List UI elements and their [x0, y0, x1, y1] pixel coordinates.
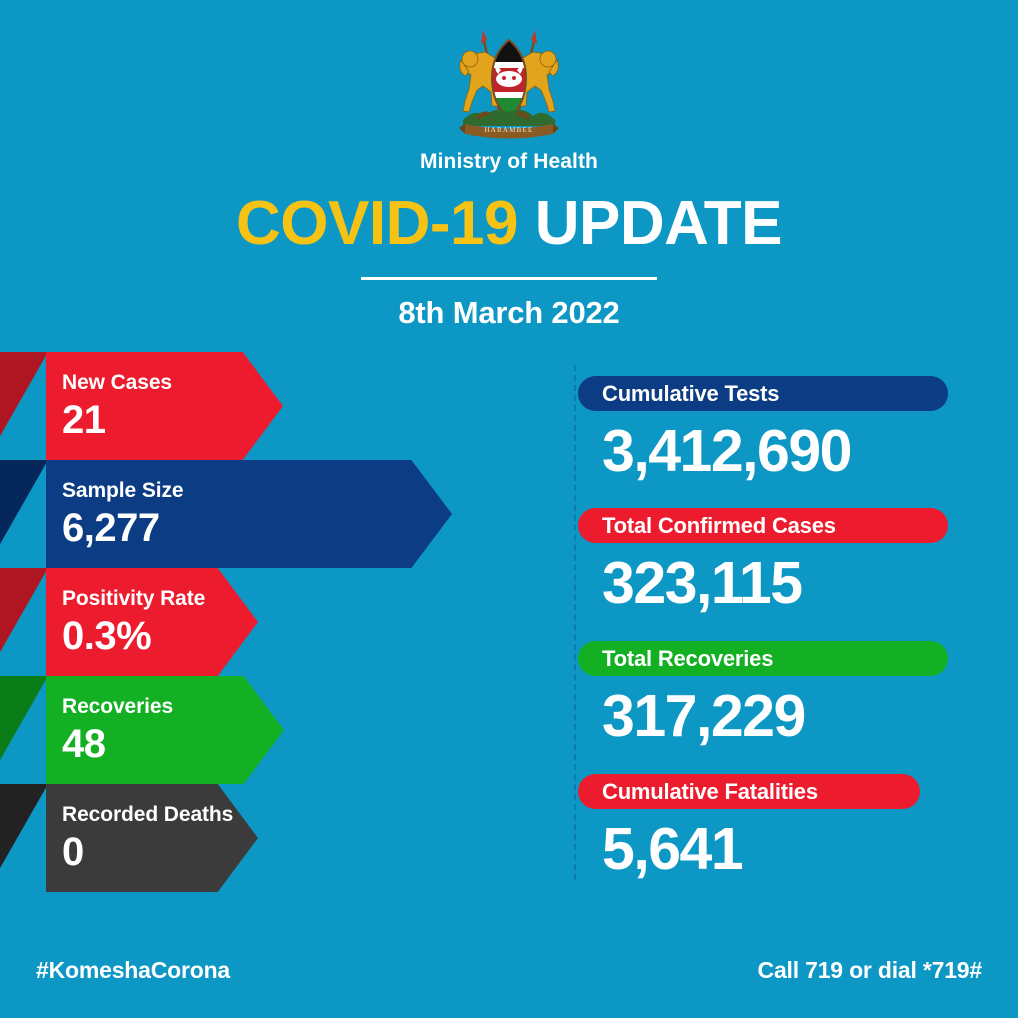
banner-tail: [0, 352, 48, 460]
ministry-label: Ministry of Health: [420, 150, 598, 174]
cumulative-stat-pill: Cumulative Tests: [578, 376, 948, 411]
report-date: 8th March 2022: [0, 295, 1018, 331]
cumulative-stat-value: 323,115: [578, 554, 992, 613]
daily-stat-recorded-deaths: Recorded Deaths 0: [0, 784, 500, 892]
page-title: COVID-19 UPDATE: [0, 193, 1018, 255]
banner-body: [46, 784, 258, 892]
column-divider: [574, 365, 576, 880]
banner-tail: [0, 460, 48, 568]
kenya-coat-of-arms-icon: HARAMBEE: [443, 24, 575, 140]
banner-body: [46, 568, 258, 676]
footer-hashtag: #KomeshaCorona: [36, 957, 230, 984]
header: HARAMBEE Ministry of Health: [0, 24, 1018, 174]
cumulative-stat-recoveries: Total Recoveries 317,229: [578, 641, 992, 746]
title-divider: [361, 277, 657, 280]
cumulative-stat-value: 3,412,690: [578, 422, 992, 481]
cumulative-stats-column: Cumulative Tests 3,412,690 Total Confirm…: [574, 365, 994, 880]
cumulative-stat-label: Total Confirmed Cases: [602, 513, 836, 539]
title-update: UPDATE: [518, 189, 782, 258]
cumulative-stat-value: 5,641: [578, 820, 992, 879]
covid-update-poster: HARAMBEE Ministry of Health COVID-19 UPD…: [0, 0, 1018, 1018]
title-covid: COVID-19: [236, 189, 518, 258]
cumulative-stat-pill: Total Confirmed Cases: [578, 508, 948, 543]
cumulative-stat-label: Total Recoveries: [602, 646, 773, 672]
footer: #KomeshaCorona Call 719 or dial *719#: [36, 957, 982, 984]
daily-stat-sample-size: Sample Size 6,277: [0, 460, 500, 568]
banner-body: [46, 676, 284, 784]
title-block: COVID-19 UPDATE 8th March 2022: [0, 193, 1018, 331]
banner-tail: [0, 784, 48, 892]
daily-stats-column: New Cases 21 Sample Size 6,277 Positivit…: [0, 352, 500, 892]
cumulative-stat-pill: Cumulative Fatalities: [578, 774, 920, 809]
daily-stat-recoveries: Recoveries 48: [0, 676, 500, 784]
banner-tail: [0, 568, 48, 676]
cumulative-stat-fatalities: Cumulative Fatalities 5,641: [578, 774, 992, 879]
cumulative-stat-label: Cumulative Fatalities: [602, 779, 818, 805]
banner-body: [46, 352, 283, 460]
daily-stat-positivity-rate: Positivity Rate 0.3%: [0, 568, 500, 676]
footer-helpline: Call 719 or dial *719#: [758, 957, 982, 984]
cumulative-stat-pill: Total Recoveries: [578, 641, 948, 676]
cumulative-stat-confirmed-cases: Total Confirmed Cases 323,115: [578, 508, 992, 613]
banner-tail: [0, 676, 48, 784]
cumulative-stat-value: 317,229: [578, 687, 992, 746]
svg-text:HARAMBEE: HARAMBEE: [485, 126, 534, 134]
cumulative-stat-tests: Cumulative Tests 3,412,690: [578, 376, 992, 481]
banner-body: [46, 460, 452, 568]
daily-stat-new-cases: New Cases 21: [0, 352, 500, 460]
cumulative-stat-label: Cumulative Tests: [602, 381, 779, 407]
